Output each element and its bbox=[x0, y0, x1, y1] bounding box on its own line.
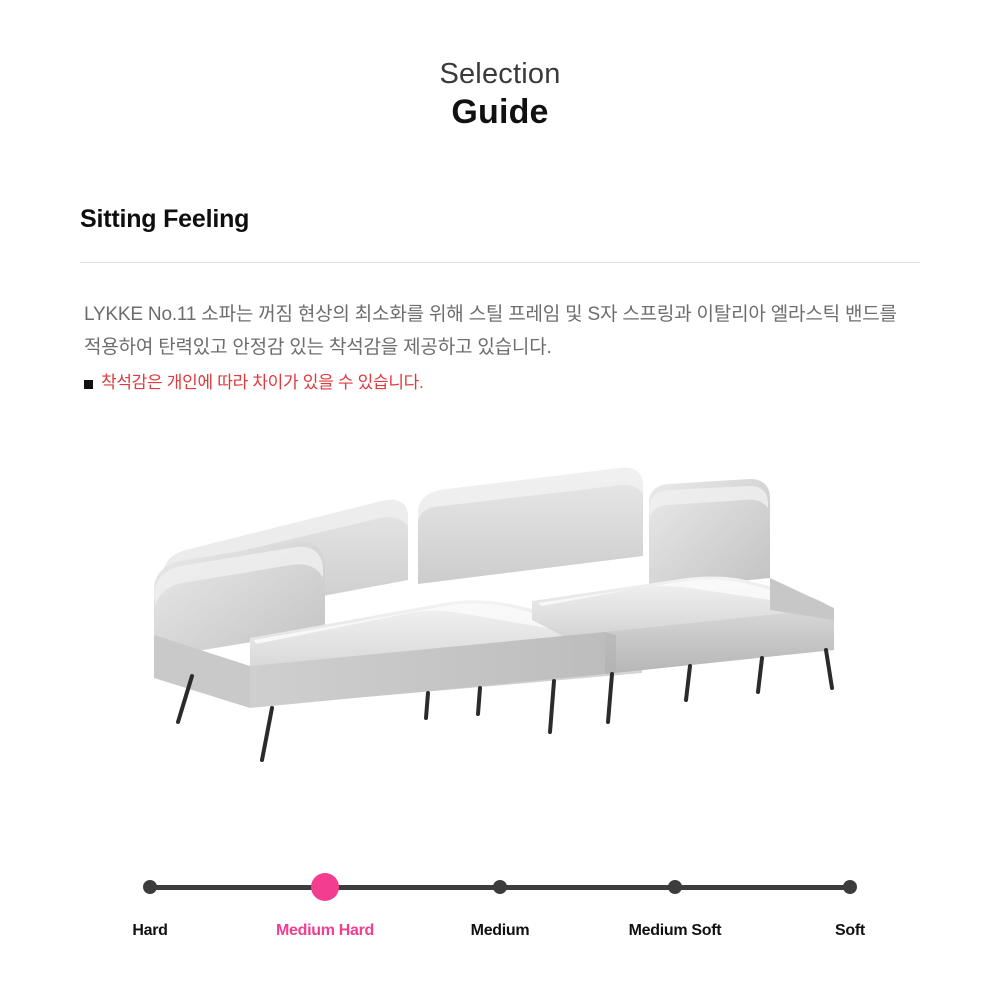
scale-dot-icon[interactable] bbox=[843, 880, 857, 894]
scale-dot-icon[interactable] bbox=[493, 880, 507, 894]
description-block: LYKKE No.11 소파는 꺼짐 현상의 최소화를 위해 스틸 프레임 및 … bbox=[84, 298, 934, 395]
page-header: Selection Guide bbox=[0, 58, 1000, 133]
page-title-eyebrow: Selection bbox=[0, 58, 1000, 90]
sofa-illustration bbox=[150, 460, 880, 780]
description-line-1: LYKKE No.11 소파는 꺼짐 현상의 최소화를 위해 스틸 프레임 및 … bbox=[84, 298, 934, 331]
page-title: Guide bbox=[0, 92, 1000, 132]
notice-text: 착석감은 개인에 따라 차이가 있을 수 있습니다. bbox=[101, 371, 423, 395]
square-bullet-icon bbox=[84, 380, 93, 389]
scale-label: Soft bbox=[730, 922, 970, 940]
section-sitting-feeling: Sitting Feeling bbox=[80, 204, 920, 263]
description-line-2: 적용하여 탄력있고 안정감 있는 착석감을 제공하고 있습니다. bbox=[84, 331, 934, 364]
scale-dot-icon[interactable] bbox=[311, 873, 339, 901]
section-divider bbox=[80, 262, 920, 263]
scale-dot-icon[interactable] bbox=[143, 880, 157, 894]
firmness-scale[interactable]: HardMedium HardMediumMedium SoftSoft bbox=[0, 862, 1000, 972]
scale-dot-icon[interactable] bbox=[668, 880, 682, 894]
product-image-sofa bbox=[150, 460, 880, 780]
section-title: Sitting Feeling bbox=[80, 204, 920, 234]
notice-row: 착석감은 개인에 따라 차이가 있을 수 있습니다. bbox=[84, 371, 934, 395]
sofa-seat-seam bbox=[605, 632, 616, 674]
